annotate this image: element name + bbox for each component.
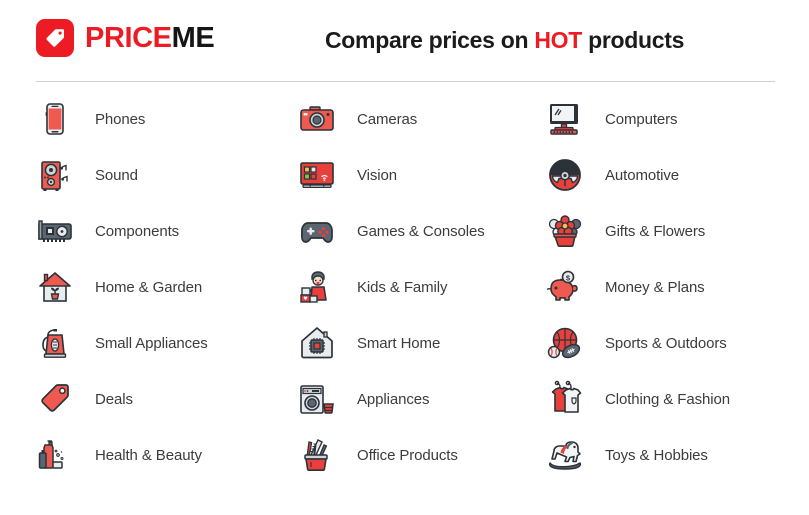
- category-item-money-plans[interactable]: $ Money & Plans: [546, 269, 730, 305]
- piggy-bank-icon: $: [546, 268, 584, 306]
- brand-name: PRICEME: [85, 24, 214, 53]
- smart-home-chip-icon: [298, 324, 336, 362]
- gamepad-icon: [298, 212, 336, 250]
- headline-accent: HOT: [534, 27, 582, 53]
- category-item-cameras[interactable]: Cameras: [298, 101, 485, 137]
- category-label: Components: [95, 223, 179, 240]
- page-header: PRICEME Compare prices on HOT products: [0, 0, 809, 82]
- brand-logo[interactable]: PRICEME: [36, 19, 214, 57]
- tshirts-icon: [546, 380, 584, 418]
- category-item-sports-outdoors[interactable]: Sports & Outdoors: [546, 325, 730, 361]
- pen-holder-icon: [298, 436, 336, 474]
- category-label: Computers: [605, 111, 677, 128]
- camera-icon: [298, 100, 336, 138]
- category-label: Games & Consoles: [357, 223, 485, 240]
- category-label: Home & Garden: [95, 279, 202, 296]
- category-item-clothing-fashion[interactable]: Clothing & Fashion: [546, 381, 730, 417]
- price-tag-icon: [36, 19, 74, 57]
- washing-machine-icon: [298, 380, 336, 418]
- category-label: Office Products: [357, 447, 458, 464]
- category-label: Vision: [357, 167, 397, 184]
- desktop-computer-icon: [546, 100, 584, 138]
- category-column-3: Computers Automotive: [546, 101, 730, 493]
- category-item-home-garden[interactable]: Home & Garden: [36, 269, 208, 305]
- headline-before: Compare prices on: [325, 27, 534, 53]
- category-label: Phones: [95, 111, 145, 128]
- category-label: Clothing & Fashion: [605, 391, 730, 408]
- graphics-card-icon: [36, 212, 74, 250]
- category-label: Health & Beauty: [95, 447, 202, 464]
- category-item-sound[interactable]: Sound: [36, 157, 208, 193]
- category-item-appliances[interactable]: Appliances: [298, 381, 485, 417]
- category-directory-page: PRICEME Compare prices on HOT products P…: [0, 0, 809, 515]
- category-item-health-beauty[interactable]: Health & Beauty: [36, 437, 208, 473]
- sports-balls-icon: [546, 324, 584, 362]
- category-item-phones[interactable]: Phones: [36, 101, 208, 137]
- category-label: Automotive: [605, 167, 679, 184]
- category-label: Deals: [95, 391, 133, 408]
- category-label: Kids & Family: [357, 279, 447, 296]
- category-label: Smart Home: [357, 335, 440, 352]
- category-item-office-products[interactable]: Office Products: [298, 437, 485, 473]
- category-label: Gifts & Flowers: [605, 223, 705, 240]
- category-item-automotive[interactable]: Automotive: [546, 157, 730, 193]
- speaker-icon: [36, 156, 74, 194]
- category-item-games-consoles[interactable]: Games & Consoles: [298, 213, 485, 249]
- price-tag-icon: [36, 380, 74, 418]
- category-item-vision[interactable]: Vision: [298, 157, 485, 193]
- category-item-toys-hobbies[interactable]: Toys & Hobbies: [546, 437, 730, 473]
- brand-name-part1: PRICE: [85, 22, 172, 54]
- category-item-gifts-flowers[interactable]: Gifts & Flowers: [546, 213, 730, 249]
- kettle-icon: [36, 324, 74, 362]
- category-item-smart-home[interactable]: Smart Home: [298, 325, 485, 361]
- category-label: Sound: [95, 167, 138, 184]
- smartphone-icon: [36, 100, 74, 138]
- house-plant-icon: [36, 268, 74, 306]
- page-title: Compare prices on HOT products: [325, 27, 684, 54]
- category-label: Sports & Outdoors: [605, 335, 727, 352]
- category-label: Cameras: [357, 111, 417, 128]
- flower-pot-icon: [546, 212, 584, 250]
- brand-name-part2: ME: [172, 22, 215, 54]
- headline-after: products: [582, 27, 684, 53]
- header-divider: [36, 81, 775, 82]
- category-column-2: Cameras: [298, 101, 485, 493]
- category-item-computers[interactable]: Computers: [546, 101, 730, 137]
- category-label: Toys & Hobbies: [605, 447, 708, 464]
- steering-wheel-icon: [546, 156, 584, 194]
- child-blocks-icon: [298, 268, 336, 306]
- category-item-small-appliances[interactable]: Small Appliances: [36, 325, 208, 361]
- cosmetics-bottles-icon: [36, 436, 74, 474]
- category-item-components[interactable]: Components: [36, 213, 208, 249]
- category-item-kids-family[interactable]: Kids & Family: [298, 269, 485, 305]
- smart-tv-icon: [298, 156, 336, 194]
- category-item-deals[interactable]: Deals: [36, 381, 208, 417]
- category-label: Small Appliances: [95, 335, 208, 352]
- category-column-1: Phones: [36, 101, 208, 493]
- rocking-horse-icon: [546, 436, 584, 474]
- category-label: Appliances: [357, 391, 429, 408]
- category-label: Money & Plans: [605, 279, 705, 296]
